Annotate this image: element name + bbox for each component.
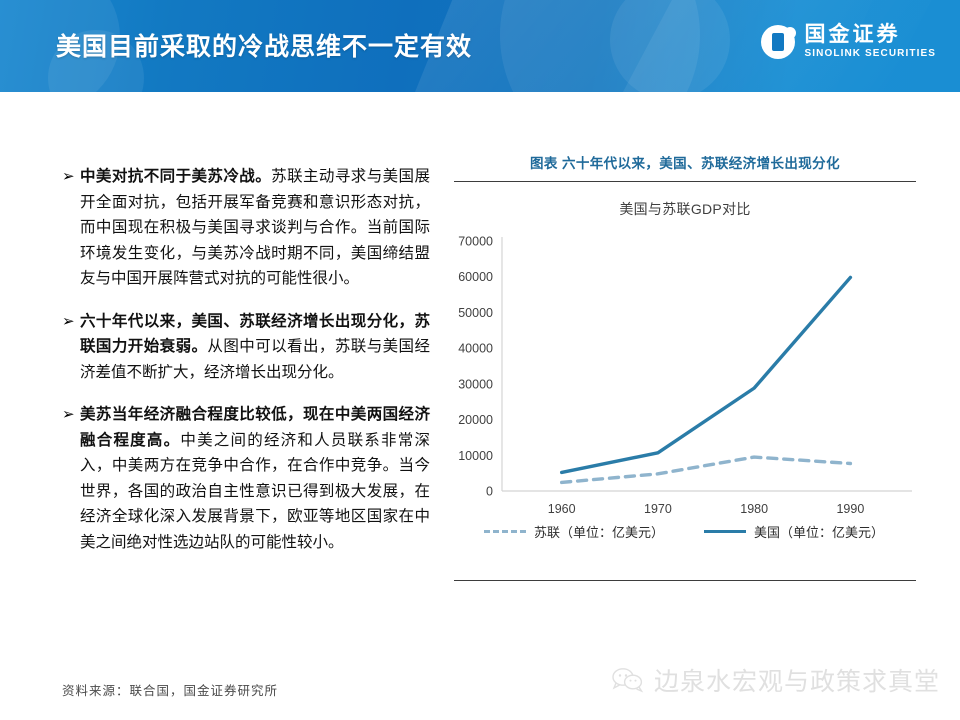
page-title: 美国目前采取的冷战思维不一定有效 <box>56 27 472 63</box>
svg-text:1980: 1980 <box>740 502 768 516</box>
figure-rule-top <box>454 181 916 182</box>
chart-plot-area: 0100002000030000400005000060000700001960… <box>440 225 930 555</box>
legend-swatch-dashed-icon <box>484 530 526 533</box>
bullet-text: 六十年代以来，美国、苏联经济增长出现分化，苏联国力开始衰弱。从图中可以看出，苏联… <box>80 309 430 386</box>
brand-logo: 国金证券 SINOLINK SECURITIES <box>761 24 936 59</box>
legend-label-soviet: 苏联（单位：亿美元） <box>534 522 664 541</box>
svg-text:50000: 50000 <box>458 306 493 320</box>
figure-rule-bottom <box>454 580 916 581</box>
arrow-bullet-icon: ➢ <box>62 164 80 292</box>
bullet-lead: 中美对抗不同于美苏冷战。 <box>80 168 271 185</box>
chart-title: 美国与苏联GDP对比 <box>440 199 930 219</box>
bullet-list: ➢ 中美对抗不同于美苏冷战。苏联主动寻求与美国展开全面对抗，包括开展军备竞赛和意… <box>62 164 430 572</box>
sinolink-circle-logo-icon <box>761 25 795 59</box>
legend-item-soviet: 苏联（单位：亿美元） <box>484 522 664 541</box>
svg-text:20000: 20000 <box>458 413 493 427</box>
svg-text:10000: 10000 <box>458 449 493 463</box>
svg-text:70000: 70000 <box>458 235 493 249</box>
svg-text:1990: 1990 <box>836 502 864 516</box>
line-chart-svg: 0100002000030000400005000060000700001960… <box>440 225 930 555</box>
bullet-text: 中美对抗不同于美苏冷战。苏联主动寻求与美国展开全面对抗，包括开展军备竞赛和意识形… <box>80 164 430 292</box>
legend-item-usa: 美国（单位：亿美元） <box>704 522 884 541</box>
legend-swatch-solid-icon <box>704 530 746 533</box>
watermark-text: 边泉水宏观与政策求真堂 <box>654 662 940 698</box>
list-item: ➢ 中美对抗不同于美苏冷战。苏联主动寻求与美国展开全面对抗，包括开展军备竞赛和意… <box>62 164 430 292</box>
svg-text:60000: 60000 <box>458 270 493 284</box>
logo-text: 国金证券 SINOLINK SECURITIES <box>805 24 936 59</box>
slide-body: ➢ 中美对抗不同于美苏冷战。苏联主动寻求与美国展开全面对抗，包括开展军备竞赛和意… <box>0 92 960 720</box>
logo-chinese-name: 国金证券 <box>805 24 936 45</box>
list-item: ➢ 六十年代以来，美国、苏联经济增长出现分化，苏联国力开始衰弱。从图中可以看出，… <box>62 309 430 386</box>
arrow-bullet-icon: ➢ <box>62 402 80 555</box>
slide-header: 美国目前采取的冷战思维不一定有效 国金证券 SINOLINK SECURITIE… <box>0 0 960 92</box>
logo-english-name: SINOLINK SECURITIES <box>805 49 936 59</box>
source-note: 资料来源：联合国，国金证券研究所 <box>62 680 278 699</box>
legend-label-usa: 美国（单位：亿美元） <box>754 522 884 541</box>
arrow-bullet-icon: ➢ <box>62 309 80 386</box>
figure-card: 图表 六十年代以来，美国、苏联经济增长出现分化 美国与苏联GDP对比 01000… <box>440 150 930 630</box>
bullet-text: 美苏当年经济融合程度比较低，现在中美两国经济融合程度高。中美之间的经济和人员联系… <box>80 402 430 555</box>
svg-text:30000: 30000 <box>458 377 493 391</box>
svg-text:1970: 1970 <box>644 502 672 516</box>
watermark: 边泉水宏观与政策求真堂 <box>612 662 940 698</box>
svg-text:0: 0 <box>486 485 493 499</box>
bullet-rest: 中美之间的经济和人员联系非常深入，中美两方在竞争中合作，在合作中竞争。当今世界，… <box>80 432 430 551</box>
wechat-icon <box>612 667 644 693</box>
slide: 美国目前采取的冷战思维不一定有效 国金证券 SINOLINK SECURITIE… <box>0 0 960 720</box>
svg-text:1960: 1960 <box>548 502 576 516</box>
figure-caption: 图表 六十年代以来，美国、苏联经济增长出现分化 <box>440 150 930 172</box>
list-item: ➢ 美苏当年经济融合程度比较低，现在中美两国经济融合程度高。中美之间的经济和人员… <box>62 402 430 555</box>
svg-text:40000: 40000 <box>458 342 493 356</box>
chart-legend: 苏联（单位：亿美元） 美国（单位：亿美元） <box>464 522 904 541</box>
bullet-rest: 苏联主动寻求与美国展开全面对抗，包括开展军备竞赛和意识形态对抗，而中国现在积极与… <box>80 168 430 287</box>
